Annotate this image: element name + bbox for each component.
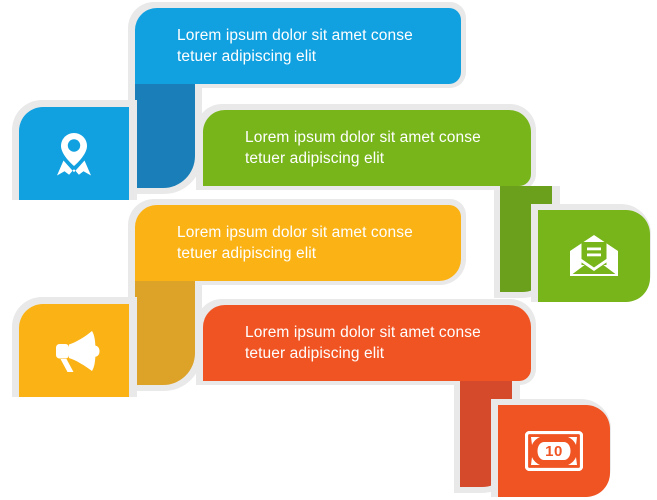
step-4-iconbox[interactable]: 10 [498,405,610,497]
open-envelope-icon [568,234,620,278]
banknote-icon: 10 [525,431,583,471]
map-pin-icon [52,130,96,178]
step-1-iconbox[interactable] [19,107,129,200]
step-3-iconbox[interactable] [19,304,129,397]
step-1-bar-text: Lorem ipsum dolor sit amet conse tetuer … [135,25,461,68]
banknote-value-label: 10 [525,431,583,471]
step-2-bar-text: Lorem ipsum dolor sit amet conse tetuer … [203,127,531,170]
step-3-elbow [135,281,195,385]
step-4-bar[interactable]: Lorem ipsum dolor sit amet conse tetuer … [203,305,531,381]
step-3-bar[interactable]: Lorem ipsum dolor sit amet conse tetuer … [135,205,461,281]
step-2-bar[interactable]: Lorem ipsum dolor sit amet conse tetuer … [203,110,531,186]
step-3-bar-text: Lorem ipsum dolor sit amet conse tetuer … [135,222,461,265]
step-4-bar-text: Lorem ipsum dolor sit amet conse tetuer … [203,322,531,365]
step-1-elbow [135,84,195,188]
step-1-bar[interactable]: Lorem ipsum dolor sit amet conse tetuer … [135,8,461,84]
step-2-iconbox[interactable] [538,210,650,302]
megaphone-icon [48,328,100,374]
infographic-canvas: Lorem ipsum dolor sit amet conse tetuer … [0,0,657,500]
